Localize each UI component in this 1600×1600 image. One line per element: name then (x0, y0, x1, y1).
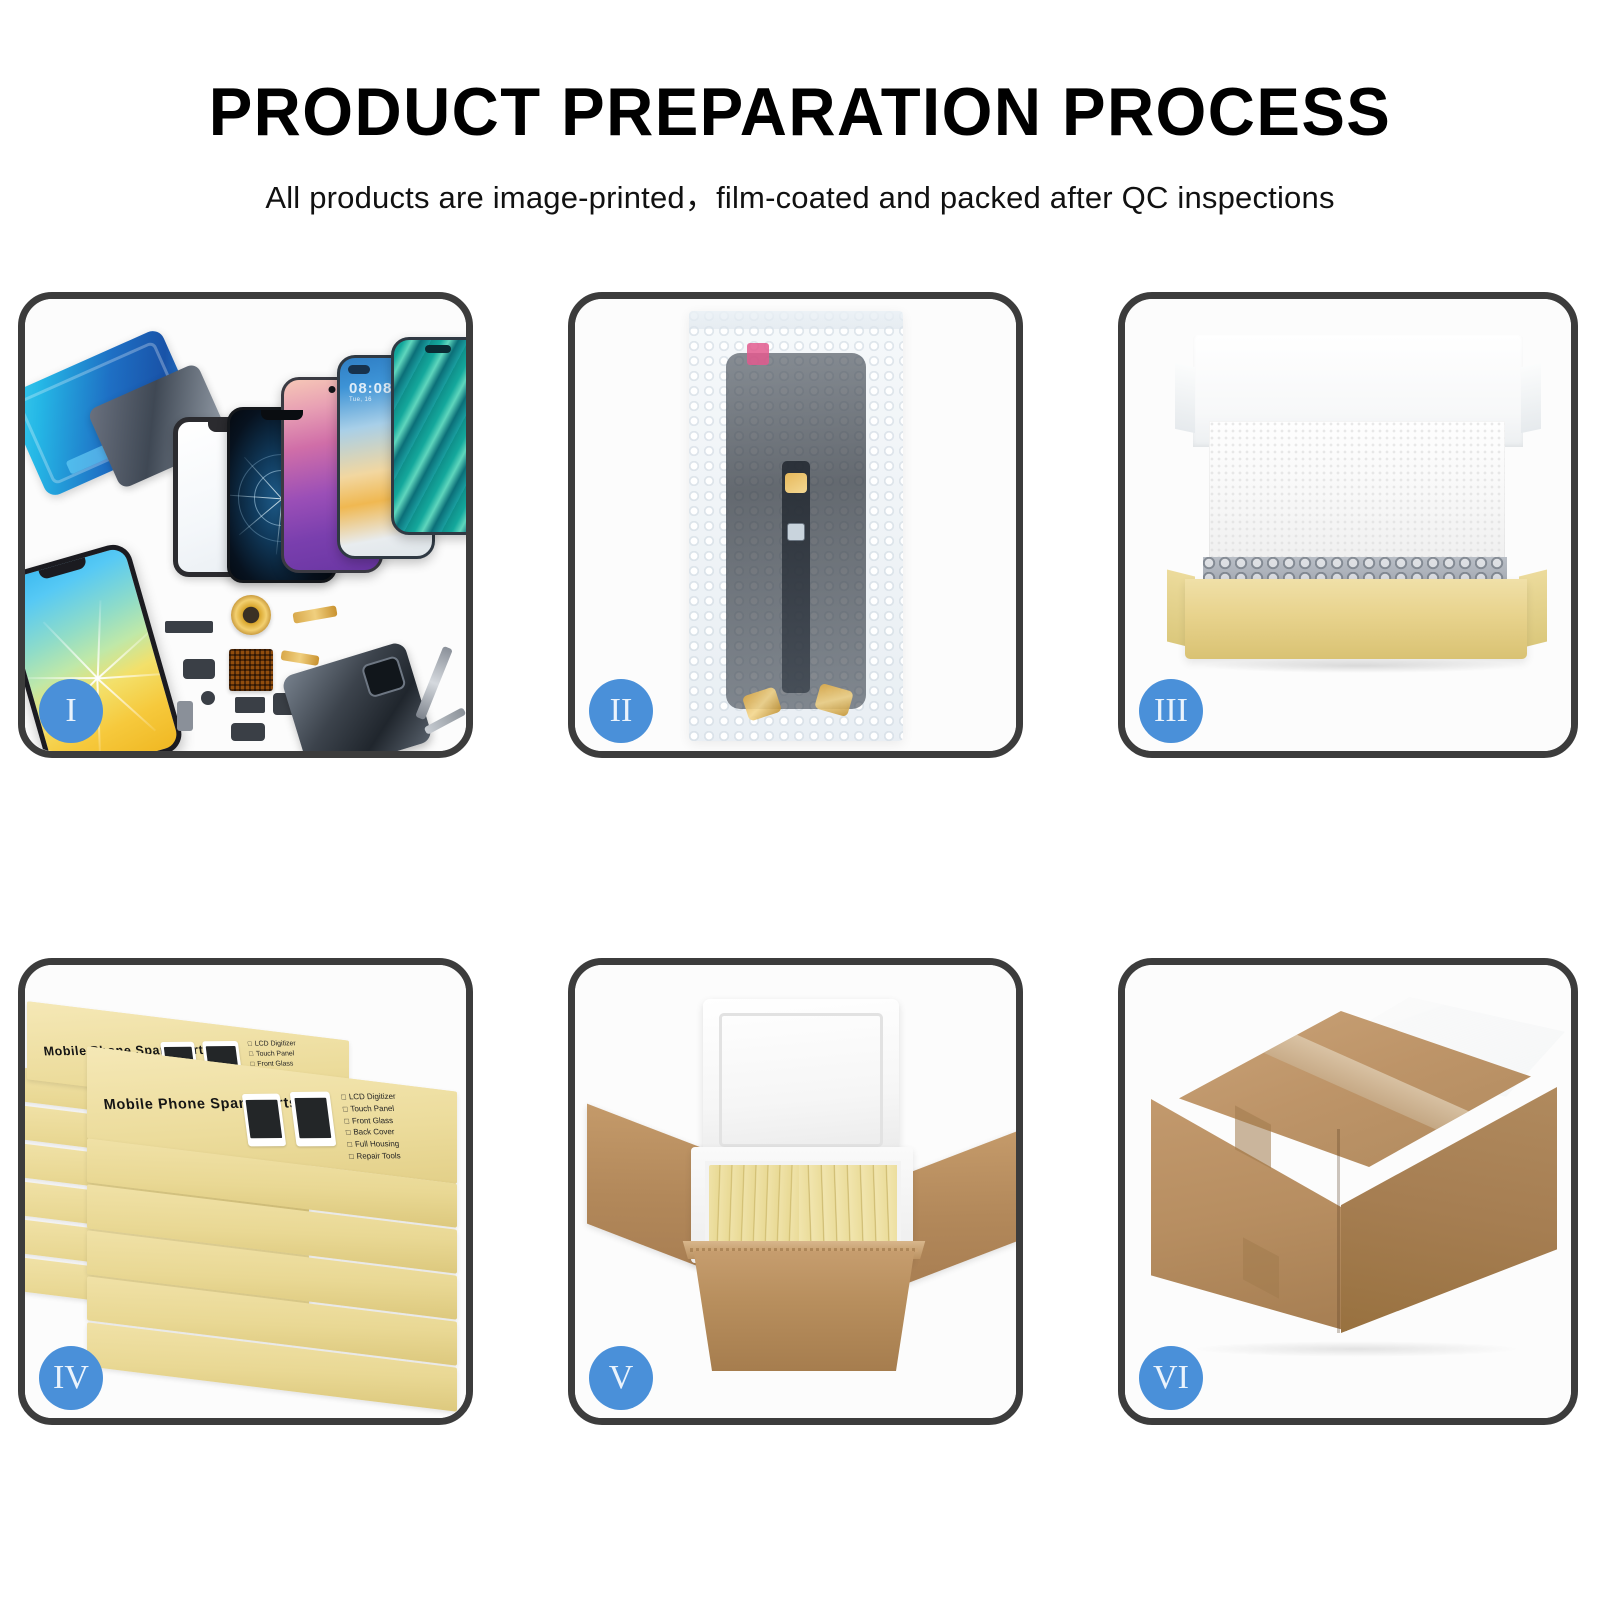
part-sim-tray (177, 701, 193, 731)
page-subtitle: All products are image-printed，film-coat… (0, 172, 1600, 217)
carton-body (689, 1251, 919, 1371)
retail-box-thumbnail (290, 1092, 337, 1147)
mailer-shadow (1205, 659, 1515, 673)
page-header: PRODUCT PREPARATION PROCESS All products… (0, 0, 1600, 217)
part-power-flex-cable (292, 605, 337, 623)
phone-clock-time: 08:08 (349, 380, 392, 397)
inner-box-scene (1125, 299, 1571, 751)
step-panel-3[interactable]: III (1118, 292, 1578, 758)
step-panel-6[interactable]: VI (1118, 958, 1578, 1425)
styrofoam-cavity (705, 1161, 901, 1249)
components-scene: 08:08 Tue, 16 (25, 299, 466, 751)
part-volume-flex-cable (280, 650, 319, 666)
part-camera-module (183, 659, 215, 679)
open-shipping-carton (605, 1005, 1001, 1375)
retail-box-checklist: LCD Digitizer Touch Panel Front Glass Ba… (341, 1091, 404, 1163)
tool-tweezers (415, 646, 453, 720)
bubble-wrap-scene (575, 299, 1016, 751)
carton-corner-seam (1337, 1129, 1340, 1333)
checklist-item: Back Cover (345, 1126, 401, 1138)
step-badge-4: IV (39, 1346, 103, 1410)
phone-clock: 08:08 Tue, 16 (349, 380, 392, 403)
part-ic-chip-array (229, 649, 273, 691)
packed-gold-boxes (709, 1165, 897, 1245)
open-mailer-box (1171, 335, 1543, 697)
carton-shadow (1191, 1341, 1521, 1357)
step-panel-5[interactable]: V (568, 958, 1023, 1425)
bag-seal (689, 311, 903, 329)
step-1-image: 08:08 Tue, 16 (25, 299, 466, 751)
part-battery-connector (235, 697, 265, 713)
retail-box-stack: Mobile Phone Spare Parts LCD Digitizer T… (25, 965, 466, 1418)
mailer-foam-sheet (1209, 421, 1505, 563)
bubble-wrap-bag (689, 311, 903, 741)
step-badge-3: III (1139, 679, 1203, 743)
foam-carton-scene (575, 965, 1016, 1418)
retail-box-thumbnail (242, 1094, 286, 1147)
wrapped-gold-connector (785, 473, 807, 493)
checklist-item: Front Glass (344, 1115, 400, 1127)
page-title: PRODUCT PREPARATION PROCESS (32, 78, 1568, 146)
checklist-item: Touch Panel (249, 1049, 298, 1059)
part-microphone (201, 691, 215, 705)
shatter-lines (97, 678, 98, 679)
checklist-item: Repair Tools (348, 1150, 404, 1162)
wrapped-flex-cable (782, 461, 810, 693)
checklist-item: Touch Panel (342, 1103, 398, 1115)
step-3-image (1125, 299, 1571, 751)
step-badge-1: I (39, 679, 103, 743)
part-speaker-mesh (165, 621, 213, 633)
sealed-shipping-carton (1151, 1011, 1557, 1363)
stacked-boxes-scene: Mobile Phone Spare Parts LCD Digitizer T… (25, 965, 466, 1418)
checklist-item: Full Housing (347, 1138, 403, 1150)
step-panel-4[interactable]: Mobile Phone Spare Parts LCD Digitizer T… (18, 958, 473, 1425)
step-5-image (575, 965, 1016, 1418)
checklist-item: LCD Digitizer (341, 1091, 397, 1103)
styrofoam-lid (703, 999, 899, 1163)
part-vibrator-motor (231, 723, 265, 741)
step-6-image (1125, 965, 1571, 1418)
step-badge-6: VI (1139, 1346, 1203, 1410)
checklist-item: LCD Digitizer (247, 1039, 296, 1049)
sealed-carton-scene (1125, 965, 1571, 1418)
mailer-front-wall (1185, 579, 1527, 659)
step-badge-2: II (589, 679, 653, 743)
step-4-image: Mobile Phone Spare Parts LCD Digitizer T… (25, 965, 466, 1418)
tool-screwdriver (424, 707, 466, 735)
step-panel-1[interactable]: 08:08 Tue, 16 (18, 292, 473, 758)
part-wireless-charge-coil (231, 595, 271, 635)
step-badge-5: V (589, 1346, 653, 1410)
wrapped-ic-chip (787, 523, 805, 541)
step-2-image (575, 299, 1016, 751)
pink-qc-sticker (747, 343, 769, 365)
step-panel-2[interactable]: II (568, 292, 1023, 758)
teal-wave-phone (391, 337, 466, 535)
phone-clock-date: Tue, 16 (349, 397, 392, 403)
process-steps-grid: 08:08 Tue, 16 (0, 292, 1600, 1472)
